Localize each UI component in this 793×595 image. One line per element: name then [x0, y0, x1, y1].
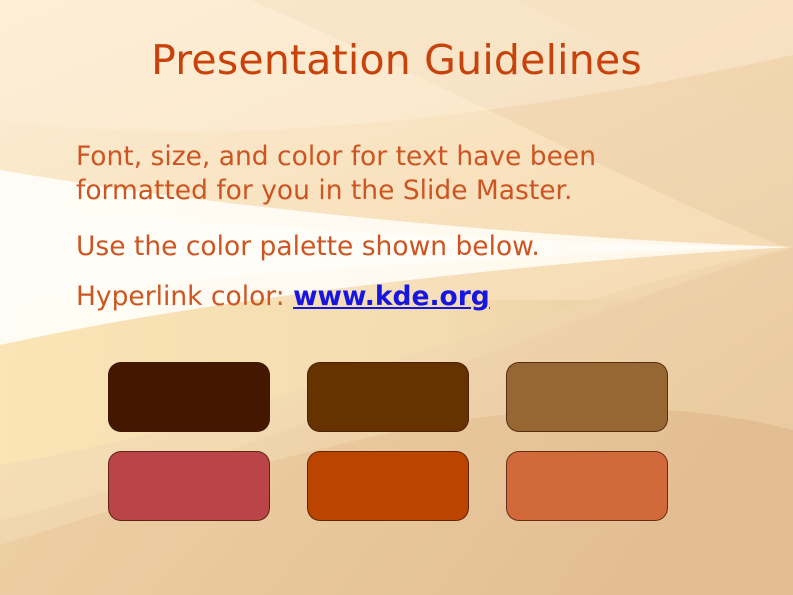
kde-org-hyperlink[interactable]: www.kde.org: [293, 281, 490, 312]
swatch-brown: [307, 362, 469, 432]
presentation-slide: Presentation Guidelines Font, size, and …: [0, 0, 793, 595]
swatch-dark-brown: [108, 362, 270, 432]
hyperlink-paragraph: Hyperlink color: www.kde.org: [76, 280, 736, 314]
swatch-light-orange: [506, 451, 668, 521]
slide-title: Presentation Guidelines: [0, 38, 793, 84]
slide-body: Font, size, and color for text have been…: [76, 140, 736, 315]
swatch-brick-red: [108, 451, 270, 521]
swatch-tan: [506, 362, 668, 432]
color-palette: [108, 362, 668, 522]
swatch-burnt-orange: [307, 451, 469, 521]
body-paragraph-2: Use the color palette shown below.: [76, 230, 736, 264]
body-paragraph-1: Font, size, and color for text have been…: [76, 140, 716, 209]
hyperlink-label: Hyperlink color:: [76, 281, 293, 312]
